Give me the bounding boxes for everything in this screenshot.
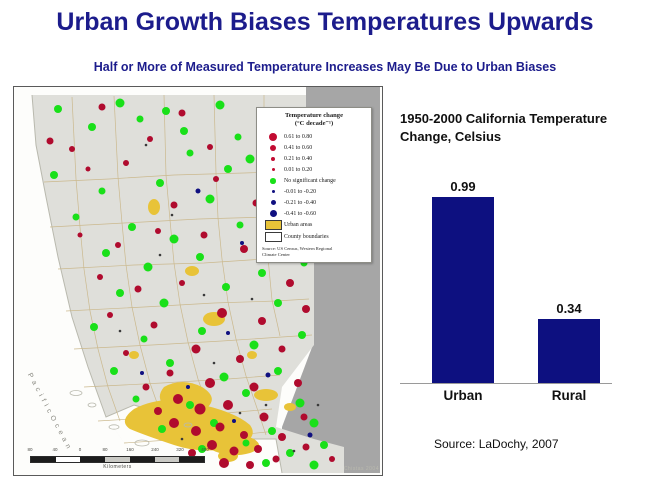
legend-swatch <box>262 190 284 193</box>
legend-item: -0.01 to -0.20 <box>262 186 366 197</box>
bar-value-label: 0.99 <box>450 179 475 194</box>
legend-item: -0.41 to -0.60 <box>262 208 366 219</box>
page-title: Urban Growth Biases Temperatures Upwards <box>0 8 650 37</box>
bar-column-urban: 0.99 <box>432 168 494 383</box>
legend-item: No significant change <box>262 175 366 186</box>
legend-swatch <box>262 178 284 184</box>
legend-swatch <box>262 220 284 230</box>
legend-item: 0.01 to 0.20 <box>262 164 366 175</box>
chart-title: 1950-2000 California Temperature Change,… <box>400 110 638 145</box>
page-subtitle: Half or More of Measured Temperature Inc… <box>0 60 650 74</box>
legend-item: 0.21 to 0.40 <box>262 153 366 164</box>
legend-swatch <box>262 232 284 242</box>
legend-label: 0.41 to 0.60 <box>284 145 312 151</box>
legend-swatch <box>262 210 284 217</box>
chart-x-axis <box>400 383 612 384</box>
legend-swatch <box>262 200 284 205</box>
scalebar-tick: 0 <box>79 447 82 452</box>
scalebar-graphic <box>30 456 205 463</box>
legend-title-line1: Temperature change <box>262 112 366 120</box>
scalebar-tick: 80 <box>102 447 107 452</box>
circle-marker-icon <box>270 210 277 217</box>
legend-label: No significant change <box>284 178 336 184</box>
legend-label: -0.41 to -0.60 <box>284 211 316 217</box>
legend-item: 0.41 to 0.60 <box>262 142 366 153</box>
scalebar-tick: 160 <box>126 447 134 452</box>
legend-label: County boundaries <box>284 234 329 240</box>
legend-item: 0.61 to 0.80 <box>262 131 366 142</box>
circle-marker-icon <box>270 145 277 152</box>
bar-rect-rural <box>538 319 600 383</box>
chart-source-note: Source: LaDochy, 2007 <box>434 437 559 451</box>
chart-plot-area: 0.99 0.34 <box>410 168 626 383</box>
bar-chart-panel: 1950-2000 California Temperature Change,… <box>392 110 642 470</box>
scalebar-tick-labels: 80 40 0 80 160 240 320 400 <box>30 447 205 456</box>
legend-label: Urban areas <box>284 222 312 228</box>
legend-swatch <box>262 157 284 162</box>
legend-swatch <box>262 145 284 152</box>
circle-marker-icon <box>271 157 276 162</box>
map-scalebar: 80 40 0 80 160 240 320 400 Kilometers <box>30 447 205 470</box>
legend-label: 0.21 to 0.40 <box>284 156 312 162</box>
circle-marker-icon <box>272 168 275 171</box>
bar-label-urban: Urban <box>432 388 494 403</box>
legend-item: Urban areas <box>262 219 366 231</box>
legend-title: Temperature change (°C decade⁻¹) <box>262 112 366 128</box>
county-boundary-swatch-icon <box>265 232 282 242</box>
slide-root: Urban Growth Biases Temperatures Upwards… <box>0 0 650 488</box>
bar-rect-urban <box>432 197 494 383</box>
legend-label: -0.01 to -0.20 <box>284 189 316 195</box>
circle-marker-icon <box>270 178 276 184</box>
urban-area-swatch-icon <box>265 220 282 230</box>
circle-marker-icon <box>272 190 275 193</box>
map-watermark: Chistas 2004 <box>344 466 379 472</box>
legend-title-line2: (°C decade⁻¹) <box>262 120 366 128</box>
legend-label: 0.01 to 0.20 <box>284 167 312 173</box>
scalebar-unit-label: Kilometers <box>30 464 205 470</box>
legend-label: -0.21 to -0.40 <box>284 200 316 206</box>
legend-source-line2: Climate Center <box>262 252 366 258</box>
bar-column-rural: 0.34 <box>538 168 600 383</box>
scalebar-tick: 240 <box>151 447 159 452</box>
california-map-panel: P a c i f i c O c e a n 80 40 0 80 160 2… <box>13 86 383 476</box>
map-legend: Temperature change (°C decade⁻¹) 0.61 to… <box>256 107 372 263</box>
bar-value-label: 0.34 <box>556 301 581 316</box>
legend-swatch <box>262 168 284 171</box>
legend-item: -0.21 to -0.40 <box>262 197 366 208</box>
legend-source-note: Source: US Census, Western Regional Clim… <box>262 246 366 257</box>
circle-marker-icon <box>269 133 277 141</box>
circle-marker-icon <box>271 200 276 205</box>
legend-swatch <box>262 133 284 141</box>
legend-label: 0.61 to 0.80 <box>284 134 312 140</box>
scalebar-tick: 80 <box>27 447 32 452</box>
legend-item: County boundaries <box>262 231 366 243</box>
scalebar-tick: 40 <box>52 447 57 452</box>
scalebar-tick: 400 <box>201 447 209 452</box>
scalebar-tick: 320 <box>176 447 184 452</box>
bar-label-rural: Rural <box>538 388 600 403</box>
